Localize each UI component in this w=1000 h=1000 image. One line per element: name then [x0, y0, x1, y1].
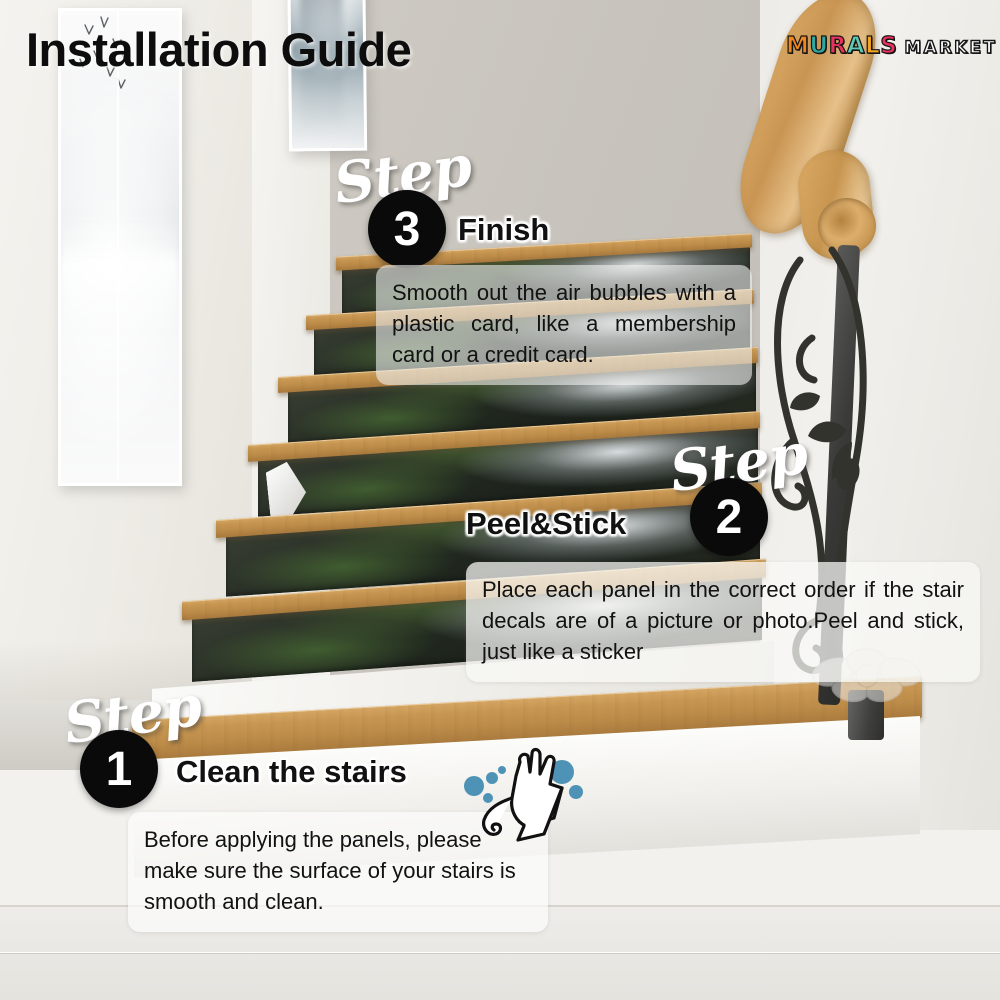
- installation-guide-poster: Installation Guide M U R A L S MARKET St…: [0, 0, 1000, 1000]
- logo-murals-text: M U R A L S: [786, 33, 897, 59]
- wall-art-misty-forest: [58, 8, 182, 486]
- step-2-heading: Peel&Stick: [466, 506, 626, 542]
- step-1-number-badge: 1: [80, 730, 158, 808]
- logo-letter-s: S: [880, 33, 897, 59]
- logo-letter-l: L: [865, 33, 880, 59]
- step-3-body-panel: Smooth out the air bubbles with a plasti…: [376, 265, 752, 385]
- step-3-heading: Finish: [458, 212, 549, 248]
- wall-art-panel-divider: [117, 8, 119, 480]
- step-1-heading: Clean the stairs: [176, 754, 407, 790]
- page-title: Installation Guide: [26, 22, 411, 77]
- logo-letter-m: M: [786, 33, 809, 59]
- brand-logo[interactable]: M U R A L S MARKET: [786, 33, 997, 59]
- hand-wiping-cloth-icon: [458, 742, 586, 846]
- floor-seam-lower: [0, 952, 1000, 953]
- logo-letter-a: A: [847, 33, 865, 59]
- logo-letter-u: U: [809, 33, 828, 59]
- logo-letter-r: R: [829, 33, 847, 59]
- step-2-number-badge: 2: [690, 478, 768, 556]
- mist-layer: [61, 211, 179, 331]
- step-3-number-badge: 3: [368, 190, 446, 268]
- logo-market-text: MARKET: [904, 38, 997, 58]
- step-2-body-panel: Place each panel in the correct order if…: [466, 562, 980, 682]
